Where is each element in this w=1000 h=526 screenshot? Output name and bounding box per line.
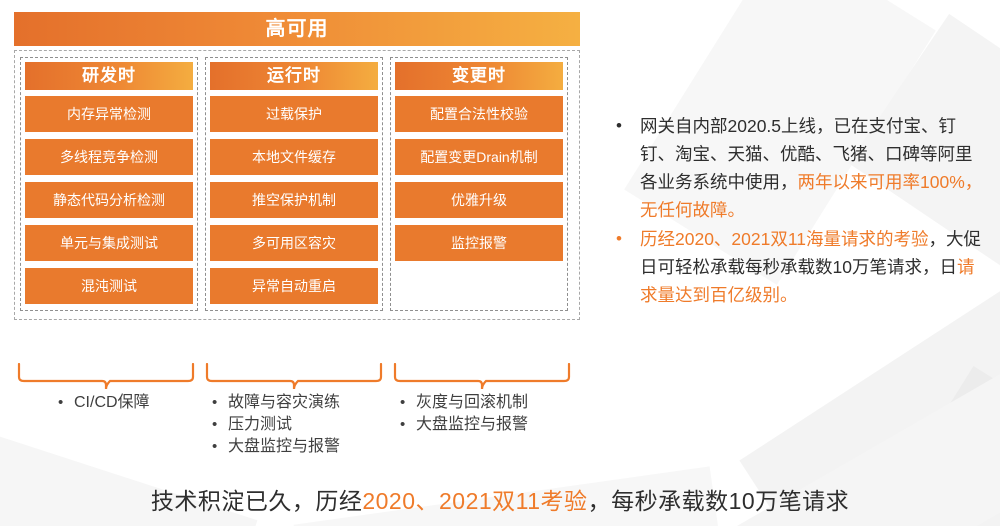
brace-bullets-dev-time: CI/CD保障 — [58, 392, 150, 414]
text-segment-highlight: 历经2020、2021双11海量请求的考验 — [640, 229, 929, 249]
brace-row — [14, 363, 580, 389]
column-header-dev-time: 研发时 — [25, 62, 193, 90]
caption-segment: 技术积淀已久，历经 — [151, 488, 363, 514]
column-runtime: 运行时 过载保护 本地文件缓存 推空保护机制 多可用区容灾 异常自动重启 — [205, 57, 383, 311]
item-box[interactable]: 单元与集成测试 — [25, 225, 193, 261]
caption-segment: ，每秒承载数10万笔请求 — [588, 488, 850, 514]
column-dev-time: 研发时 内存异常检测 多线程竞争检测 静态代码分析检测 单元与集成测试 混沌测试 — [20, 57, 198, 311]
item-box[interactable]: 多线程竞争检测 — [25, 139, 193, 175]
brace-change-time — [392, 363, 572, 389]
diagram-outer-container: 研发时 内存异常检测 多线程竞争检测 静态代码分析检测 单元与集成测试 混沌测试… — [14, 50, 580, 320]
column-items-change-time: 配置合法性校验 配置变更Drain机制 优雅升级 监控报警 — [395, 96, 563, 261]
item-box[interactable]: 本地文件缓存 — [210, 139, 378, 175]
item-box[interactable]: 静态代码分析检测 — [25, 182, 193, 218]
item-box[interactable]: 优雅升级 — [395, 182, 563, 218]
item-box[interactable]: 多可用区容灾 — [210, 225, 378, 261]
item-box[interactable]: 配置变更Drain机制 — [395, 139, 563, 175]
list-item: 故障与容灾演练 — [212, 392, 340, 414]
column-change-time: 变更时 配置合法性校验 配置变更Drain机制 优雅升级 监控报警 — [390, 57, 568, 311]
bullet-dot-icon: • — [616, 112, 622, 140]
right-text-panel: • 网关自内部2020.5上线，已在支付宝、钉钉、淘宝、天猫、优酷、飞猪、口碑等… — [608, 112, 988, 310]
brace-bullets-runtime: 故障与容灾演练 压力测试 大盘监控与报警 — [212, 392, 340, 458]
caption-segment-highlight: 2020、2021双11考验 — [362, 488, 587, 514]
list-item: 大盘监控与报警 — [400, 414, 528, 436]
right-bullet-text: 网关自内部2020.5上线，已在支付宝、钉钉、淘宝、天猫、优酷、飞猪、口碑等阿里… — [640, 116, 982, 220]
column-items-dev-time: 内存异常检测 多线程竞争检测 静态代码分析检测 单元与集成测试 混沌测试 — [25, 96, 193, 304]
list-item: CI/CD保障 — [58, 392, 150, 414]
right-bullet-text: 历经2020、2021双11海量请求的考验，大促日可轻松承载每秒承载数10万笔请… — [640, 229, 981, 305]
right-bullet-paragraph: • 历经2020、2021双11海量请求的考验，大促日可轻松承载每秒承载数10万… — [608, 225, 988, 309]
bullet-dot-icon: • — [616, 225, 622, 253]
item-box[interactable]: 内存异常检测 — [25, 96, 193, 132]
item-box[interactable]: 过载保护 — [210, 96, 378, 132]
brace-bullets-change-time: 灰度与回滚机制 大盘监控与报警 — [400, 392, 528, 436]
column-items-runtime: 过载保护 本地文件缓存 推空保护机制 多可用区容灾 异常自动重启 — [210, 96, 378, 304]
item-box[interactable]: 监控报警 — [395, 225, 563, 261]
list-item: 压力测试 — [212, 414, 340, 436]
list-item: 大盘监控与报警 — [212, 436, 340, 458]
diagram-title: 高可用 — [14, 12, 580, 46]
high-availability-diagram: 高可用 研发时 内存异常检测 多线程竞争检测 静态代码分析检测 单元与集成测试 … — [14, 12, 580, 320]
brace-runtime — [204, 363, 384, 389]
right-bullet-paragraph: • 网关自内部2020.5上线，已在支付宝、钉钉、淘宝、天猫、优酷、飞猪、口碑等… — [608, 112, 988, 224]
brace-bullet-groups: CI/CD保障 故障与容灾演练 压力测试 大盘监控与报警 灰度与回滚机制 大盘监… — [14, 392, 594, 472]
item-box[interactable]: 配置合法性校验 — [395, 96, 563, 132]
slide-canvas: 高可用 研发时 内存异常检测 多线程竞争检测 静态代码分析检测 单元与集成测试 … — [0, 0, 1000, 526]
item-box[interactable]: 混沌测试 — [25, 268, 193, 304]
item-box[interactable]: 推空保护机制 — [210, 182, 378, 218]
brace-dev-time — [16, 363, 196, 389]
column-header-change-time: 变更时 — [395, 62, 563, 90]
bottom-caption: 技术积淀已久，历经2020、2021双11考验，每秒承载数10万笔请求 — [0, 482, 1000, 516]
list-item: 灰度与回滚机制 — [400, 392, 528, 414]
column-header-runtime: 运行时 — [210, 62, 378, 90]
column-spacer — [395, 261, 563, 304]
item-box[interactable]: 异常自动重启 — [210, 268, 378, 304]
